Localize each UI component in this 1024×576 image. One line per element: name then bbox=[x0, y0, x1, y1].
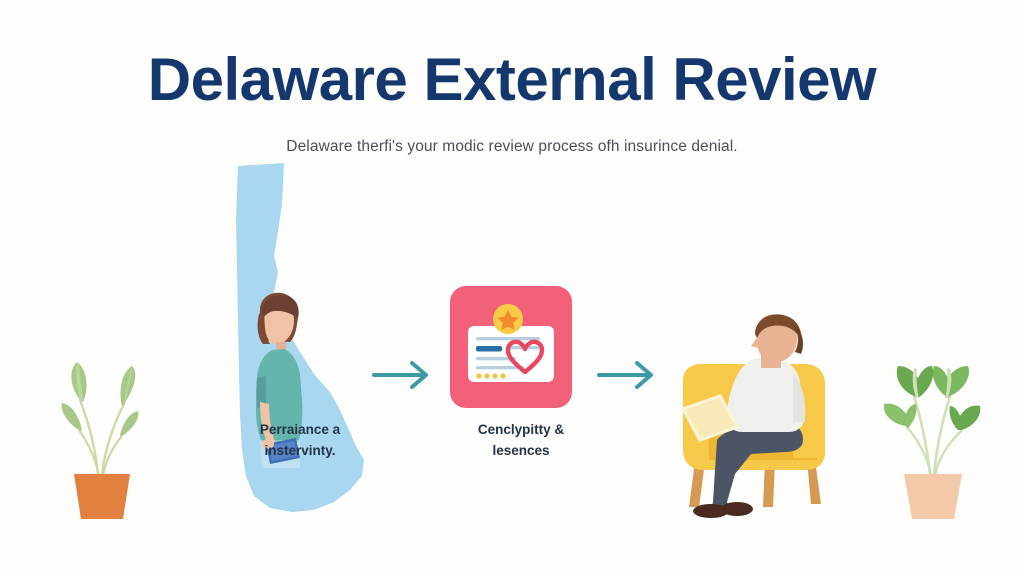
person-reading-in-armchair-icon bbox=[665, 312, 865, 522]
illustration-stage: Perraiance a instervinty. bbox=[0, 0, 1024, 576]
potted-plant-right-icon bbox=[874, 356, 990, 524]
arrow-step-1-to-2-icon bbox=[372, 358, 436, 392]
arrow-step-2-to-3-icon bbox=[597, 358, 661, 392]
delaware-map-icon bbox=[222, 160, 422, 520]
step-1-caption: Perraiance a instervinty. bbox=[205, 420, 395, 462]
potted-plant-left-icon bbox=[46, 356, 158, 524]
step-2-caption: Cenclypitty & lesences bbox=[426, 420, 616, 462]
infographic-canvas: Delaware External Review Delaware therfi… bbox=[0, 0, 1024, 576]
insurance-card-icon bbox=[450, 286, 572, 408]
